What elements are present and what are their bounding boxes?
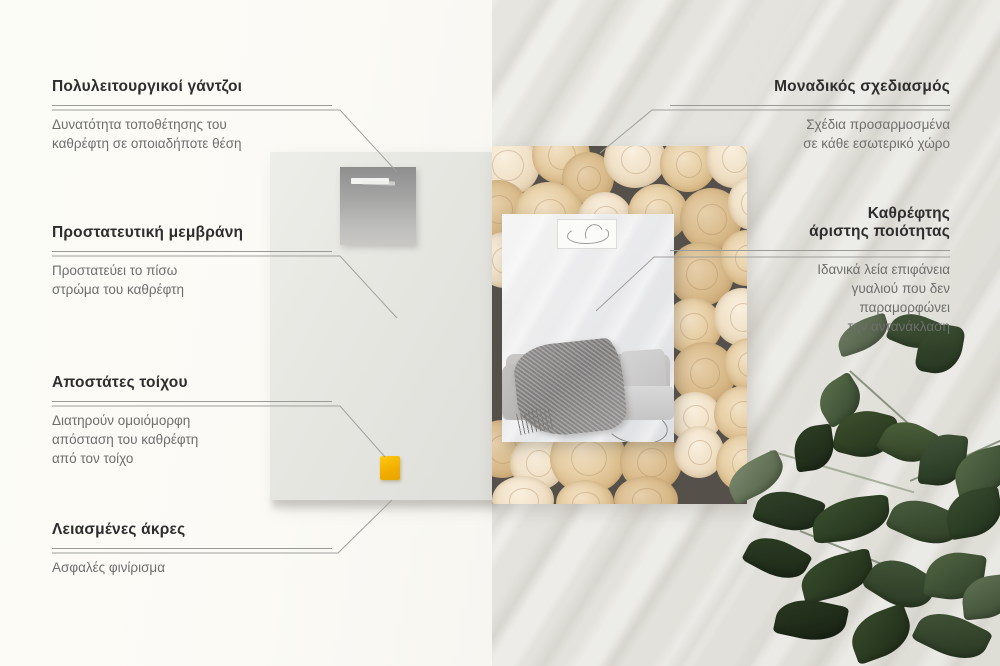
feature-edges-desc: Ασφαλές φινίρισμα bbox=[52, 558, 332, 577]
feature-quality-desc-line: γυαλιού που δεν bbox=[670, 279, 950, 298]
feature-hooks-desc: Δυνατότητα τοποθέτησης του καθρέφτη σε ο… bbox=[52, 115, 332, 153]
feature-spacers-desc-line: απόσταση του καθρέφτη bbox=[52, 430, 332, 449]
feature-spacers: Αποστάτες τοίχου Διατηρούν ομοιόμορφη απ… bbox=[52, 374, 332, 468]
feature-quality-desc-line: την αντανάκλαση bbox=[670, 317, 950, 336]
infographic-canvas: Πολυλειτουργικοί γάντζοι Δυνατότητα τοπο… bbox=[0, 0, 1000, 666]
feature-quality-title-line: άριστης ποιότητας bbox=[670, 223, 950, 241]
feature-hooks-rule bbox=[52, 105, 332, 106]
feature-quality: Καθρέφτης άριστης ποιότητας Ιδανικά λεία… bbox=[670, 205, 950, 336]
feature-spacers-rule bbox=[52, 401, 332, 402]
yellow-wall-spacer bbox=[380, 456, 400, 480]
feature-spacers-desc-line: από τον τοίχο bbox=[52, 449, 332, 468]
feature-edges-rule bbox=[52, 548, 332, 549]
feature-design: Μοναδικός σχεδιασμός Σχέδια προσαρμοσμέν… bbox=[670, 78, 950, 153]
feature-membrane-desc-line: Προστατεύει το πίσω bbox=[52, 261, 332, 280]
feature-membrane: Προστατευτική μεμβράνη Προστατεύει το πί… bbox=[52, 224, 332, 299]
feature-quality-title-line: Καθρέφτης bbox=[670, 205, 950, 223]
green-leaves-decoration bbox=[740, 330, 1000, 666]
feature-spacers-desc-line: Διατηρούν ομοιόμορφη bbox=[52, 411, 332, 430]
feature-design-rule bbox=[670, 105, 950, 106]
feature-quality-desc-line: Ιδανικά λεία επιφάνεια bbox=[670, 260, 950, 279]
feature-edges-desc-line: Ασφαλές φινίρισμα bbox=[52, 558, 332, 577]
feature-quality-desc: Ιδανικά λεία επιφάνεια γυαλιού που δεν π… bbox=[670, 260, 950, 336]
feature-quality-title: Καθρέφτης άριστης ποιότητας bbox=[670, 205, 950, 241]
feature-spacers-desc: Διατηρούν ομοιόμορφη απόσταση του καθρέφ… bbox=[52, 411, 332, 468]
feature-hooks-desc-line: καθρέφτη σε οποιαδήποτε θέση bbox=[52, 134, 332, 153]
reflected-wall-art bbox=[557, 219, 617, 249]
feature-hooks-desc-line: Δυνατότητα τοποθέτησης του bbox=[52, 115, 332, 134]
feature-edges-title: Λειασμένες άκρες bbox=[52, 521, 332, 539]
feature-spacers-title: Αποστάτες τοίχου bbox=[52, 374, 332, 392]
feature-quality-desc-line: παραμορφώνει bbox=[670, 298, 950, 317]
feature-hooks-title: Πολυλειτουργικοί γάντζοι bbox=[52, 78, 332, 96]
feature-membrane-desc-line: στρώμα του καθρέφτη bbox=[52, 280, 332, 299]
feature-edges: Λειασμένες άκρες Ασφαλές φινίρισμα bbox=[52, 521, 332, 577]
feature-design-title: Μοναδικός σχεδιασμός bbox=[670, 78, 950, 96]
mirror-front-with-reflection bbox=[502, 214, 674, 442]
feature-design-desc-line: σε κάθε εσωτερικό χώρο bbox=[670, 134, 950, 153]
feature-quality-rule bbox=[670, 250, 950, 251]
feature-hooks: Πολυλειτουργικοί γάντζοι Δυνατότητα τοπο… bbox=[52, 78, 332, 153]
feature-membrane-title: Προστατευτική μεμβράνη bbox=[52, 224, 332, 242]
feature-membrane-desc: Προστατεύει το πίσω στρώμα του καθρέφτη bbox=[52, 261, 332, 299]
panel-drop-shadow bbox=[272, 498, 498, 512]
feature-membrane-rule bbox=[52, 251, 332, 252]
feature-design-desc-line: Σχέδια προσαρμοσμένα bbox=[670, 115, 950, 134]
feature-design-desc: Σχέδια προσαρμοσμένα σε κάθε εσωτερικό χ… bbox=[670, 115, 950, 153]
